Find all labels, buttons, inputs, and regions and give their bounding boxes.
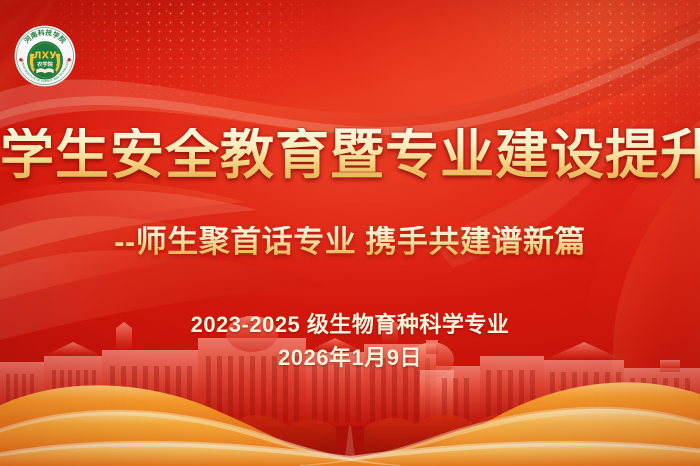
audience-info-line: 2023-2025 级生物育种科学专业 (0, 307, 700, 339)
svg-text:ЛXУ: ЛXУ (33, 50, 57, 61)
event-date-line: 2026年1月9日 (0, 340, 700, 372)
page-subtitle: --师生聚首话专业 携手共建谱新篇 (0, 226, 700, 257)
event-poster: 河南科技学院 HENAN INSTITUTE OF SCIENCE AND TE… (0, 0, 700, 466)
university-emblem-logo: 河南科技学院 HENAN INSTITUTE OF SCIENCE AND TE… (14, 25, 76, 87)
page-title: 学生安全教育暨专业建设提升会 (0, 128, 700, 182)
